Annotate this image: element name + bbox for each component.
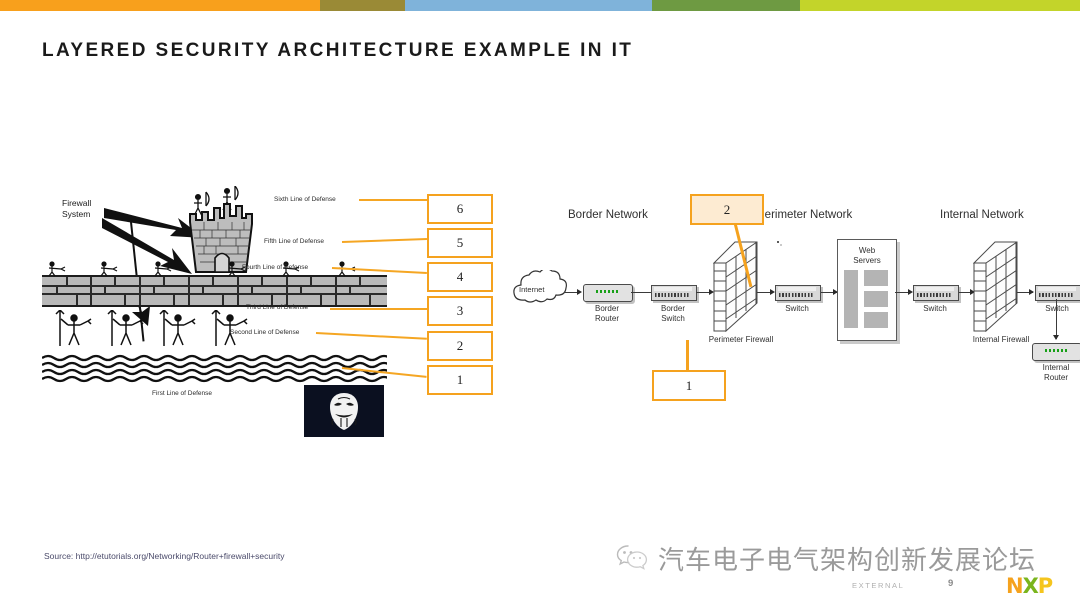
leader-line-5 (342, 238, 427, 243)
topbar-segment-orange (0, 0, 320, 11)
firewall-system-label-line1: Firewall (62, 198, 91, 209)
defense-label-fifth: Fifth Line of Defense (264, 238, 324, 245)
perimeter-switch-label: Switch (773, 304, 821, 314)
internet-label: Internet (519, 285, 544, 295)
brand-chinese-text: 汽车电子电气架构创新发展论坛 (658, 540, 1036, 577)
nxp-logo: NXP (1006, 576, 1052, 597)
border-switch-label-line1: Border (649, 304, 697, 314)
number-box-6[interactable]: 6 (427, 194, 493, 224)
zone-title-border: Border Network (568, 209, 648, 221)
border-router-icon (583, 284, 633, 302)
internal-router-label-line1: Internal (1032, 363, 1080, 373)
number-box-1[interactable]: 1 (427, 365, 493, 395)
web-server-slot-3 (864, 312, 888, 328)
defense-label-sixth: Sixth Line of Defense (274, 196, 336, 203)
border-switch-label-line2: Switch (649, 314, 697, 324)
leader-line-6 (359, 199, 427, 201)
leader-line-3 (330, 308, 427, 310)
number-box-2[interactable]: 2 (427, 331, 493, 361)
page-title: LAYERED SECURITY ARCHITECTURE EXAMPLE IN… (42, 40, 633, 62)
number-box-5[interactable]: 5 (427, 228, 493, 258)
wire-internal-switch-router (1056, 299, 1057, 339)
nxp-logo-n: N (1006, 574, 1023, 598)
web-servers-label-line2: Servers (838, 256, 896, 266)
top-color-bar (0, 0, 1080, 11)
perimeter-firewall-icon (713, 241, 759, 333)
arrow-internet-router (577, 289, 582, 295)
nxp-logo-x: X (1023, 574, 1038, 598)
page-number: 9 (948, 578, 953, 589)
network-architecture-diagram: Border Network Perimeter Network Interna… (505, 195, 1070, 405)
defense-label-third: Third Line of Defense (246, 304, 308, 311)
wire-router-switch (631, 292, 651, 293)
arrow-internal-fw-switch (1029, 289, 1034, 295)
internal-router-label-line2: Router (1032, 373, 1080, 383)
web-server-slot-1 (864, 270, 888, 286)
dmz-switch-icon (913, 285, 959, 301)
number-box-1-label: 1 (457, 372, 464, 388)
number-box-5-label: 5 (457, 235, 464, 251)
external-label: EXTERNAL (852, 581, 904, 590)
internal-switch-icon (1035, 285, 1080, 301)
number-box-3[interactable]: 3 (427, 296, 493, 326)
number-box-4-label: 4 (457, 269, 464, 285)
web-server-slot-left (844, 270, 858, 328)
callout-leader-1 (686, 340, 689, 372)
callout-box-1[interactable]: 1 (652, 370, 726, 401)
number-box-6-label: 6 (457, 201, 464, 217)
moat-water (42, 354, 387, 386)
defense-label-fourth: Fourth Line of Defense (242, 264, 308, 271)
callout-box-2-label: 2 (724, 202, 731, 218)
topbar-segment-blue (405, 0, 652, 11)
defense-label-first: First Line of Defense (152, 390, 212, 397)
wechat-brand: 汽车电子电气架构创新发展论坛 (616, 540, 1036, 577)
internal-router-icon (1032, 343, 1080, 361)
number-box-3-label: 3 (457, 303, 464, 319)
nxp-logo-p: P (1038, 574, 1052, 598)
topbar-segment-green (652, 0, 800, 11)
web-servers-group: Web Servers (837, 239, 897, 341)
border-router-label-line2: Router (583, 314, 631, 324)
zone-title-perimeter: Perimeter Network (757, 209, 852, 221)
border-switch-icon (651, 285, 697, 301)
web-servers-label-line1: Web (838, 246, 896, 256)
web-server-slot-2 (864, 291, 888, 307)
perimeter-firewall-label: Perimeter Firewall (691, 335, 791, 345)
topbar-segment-lime (800, 0, 1080, 11)
number-box-4[interactable]: 4 (427, 262, 493, 292)
zone-title-internal: Internal Network (940, 209, 1024, 221)
wechat-icon (616, 544, 650, 574)
callout-box-1-label: 1 (686, 378, 693, 394)
wall-archers (42, 260, 387, 278)
number-box-2-label: 2 (457, 338, 464, 354)
firewall-system-label-line2: System (62, 209, 91, 220)
perimeter-switch-icon (775, 285, 821, 301)
brick-wall (42, 275, 387, 307)
source-note: Source: http://etutorials.org/Networking… (44, 551, 284, 561)
arrow-internal-router (1053, 335, 1059, 340)
anonymous-mask-image (304, 385, 384, 437)
defense-label-second: Second Line of Defense (230, 329, 299, 336)
callout-box-2[interactable]: 2 (690, 194, 764, 225)
border-router-label-line1: Border (583, 304, 631, 314)
internal-firewall-icon (973, 241, 1019, 333)
dmz-switch-label: Switch (911, 304, 959, 314)
topbar-segment-olive (320, 0, 405, 11)
leader-line-2 (316, 332, 427, 339)
